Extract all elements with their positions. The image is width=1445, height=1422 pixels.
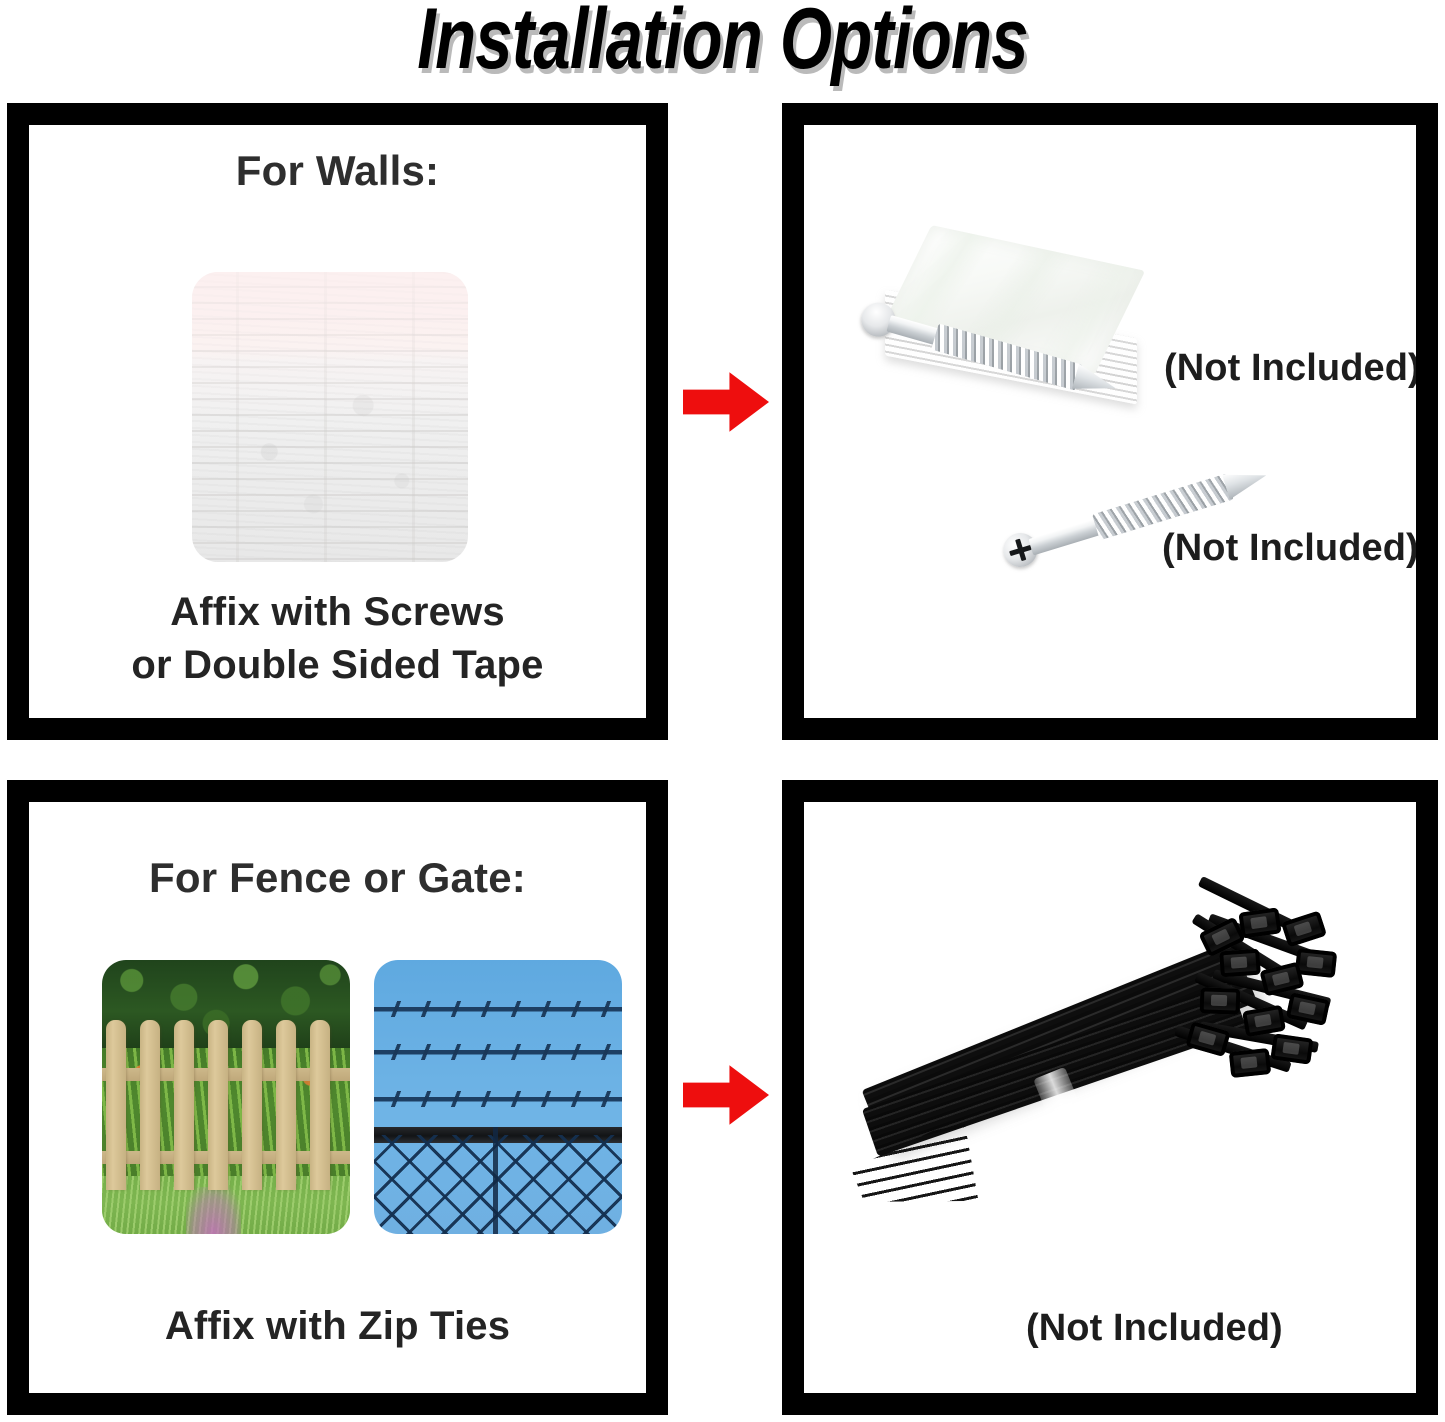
tape-not-included-label: (Not Included) <box>1164 347 1416 390</box>
for-fence-caption: Affix with Zip Ties <box>29 1300 646 1353</box>
barbed-wire-strand <box>374 1050 622 1054</box>
panel-wall-hardware: (Not Included) (Not Included) <box>782 103 1438 740</box>
fence-post <box>493 1127 498 1234</box>
screw-shank <box>1028 518 1102 555</box>
barbed-wire-strand <box>374 1097 622 1101</box>
for-walls-heading: For Walls: <box>29 147 646 195</box>
panel-for-fence-or-gate: For Fence or Gate: <box>7 780 668 1415</box>
chain-link-barbed-wire-fence-image <box>374 960 622 1234</box>
panel-zip-ties-inner: (Not Included) <box>804 802 1416 1393</box>
wooden-picket-fence-image <box>102 960 350 1234</box>
installation-options-infographic: Installation Options For Walls: Affix wi… <box>0 0 1445 1422</box>
for-fence-or-gate-heading: For Fence or Gate: <box>29 854 646 902</box>
screw-tip <box>1222 462 1270 499</box>
zip-ties-not-included-label: (Not Included) <box>1026 1307 1283 1350</box>
screw-tip <box>1072 364 1120 401</box>
panel-for-walls: For Walls: Affix with Screws or Double S… <box>7 103 668 740</box>
panel-wall-hardware-inner: (Not Included) (Not Included) <box>804 125 1416 718</box>
panel-for-fence-or-gate-inner: For Fence or Gate: <box>29 802 646 1393</box>
panel-zip-ties: (Not Included) <box>782 780 1438 1415</box>
caption-line-2: or Double Sided Tape <box>29 639 646 692</box>
zip-tie-heads <box>1124 910 1336 1120</box>
brick-top-highlight <box>192 272 468 423</box>
caption-line-1: Affix with Screws <box>29 586 646 639</box>
red-right-arrow-icon-top <box>683 371 769 433</box>
white-brick-wall-image <box>192 272 468 562</box>
fence-pickets <box>102 1020 350 1190</box>
barbed-wire-strand <box>374 1007 622 1011</box>
screws-not-included-label: (Not Included) <box>1162 527 1416 570</box>
for-walls-caption: Affix with Screws or Double Sided Tape <box>29 586 646 692</box>
black-zip-tie-bundle-image <box>852 912 1342 1262</box>
page-title: Installation Options <box>159 0 1286 84</box>
garden-path <box>186 1187 241 1234</box>
red-right-arrow-icon-bottom <box>683 1064 769 1126</box>
panel-for-walls-inner: For Walls: Affix with Screws or Double S… <box>29 125 646 718</box>
